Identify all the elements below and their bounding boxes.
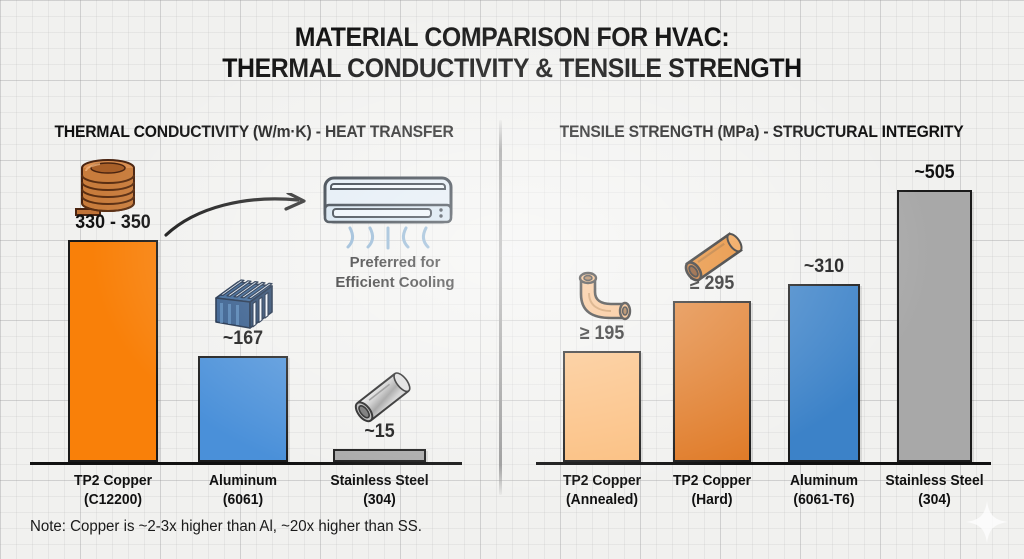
copper-elbow-pipe-icon <box>563 268 639 330</box>
footnote: Note: Copper is ~2-3x higher than Al, ~2… <box>30 518 422 536</box>
bar[interactable] <box>198 356 288 462</box>
right-panel-header: TENSILE STRENGTH (MPa) - STRUCTURAL INTE… <box>560 123 964 142</box>
preferred-callout: Preferred for Efficient Cooling <box>305 253 485 292</box>
stainless-tube-icon <box>350 368 416 426</box>
infographic-canvas: MATERIAL COMPARISON FOR HVAC: THERMAL CO… <box>0 0 1024 559</box>
bar-value-label: ~310 <box>762 256 886 278</box>
bar[interactable] <box>563 351 641 462</box>
category-label-line-2: (304) <box>296 491 462 510</box>
category-label-line-1: Stainless Steel <box>860 472 1009 491</box>
bar[interactable] <box>673 301 751 462</box>
air-conditioner-icon <box>322 175 454 251</box>
panel-divider <box>499 120 502 495</box>
bar-category-label: Stainless Steel(304) <box>296 472 462 509</box>
bar-value-label: ~167 <box>173 328 314 350</box>
page-title: MATERIAL COMPARISON FOR HVAC: THERMAL CO… <box>41 22 983 85</box>
bar-value-label: 330 - 350 <box>43 212 184 234</box>
category-label-line-1: Stainless Steel <box>296 472 462 491</box>
left-chart-baseline <box>30 462 462 465</box>
bar[interactable] <box>68 240 158 462</box>
category-label-line-2: (304) <box>860 491 1009 510</box>
bar[interactable] <box>333 449 426 462</box>
callout-line-2: Efficient Cooling <box>305 273 485 293</box>
left-panel-header: THERMAL CONDUCTIVITY (W/m·K) - HEAT TRAN… <box>55 123 454 142</box>
copper-coil-icon <box>70 157 142 219</box>
title-line-2: THERMAL CONDUCTIVITY & TENSILE STRENGTH <box>41 53 983 84</box>
bar-value-label: ~505 <box>871 162 998 184</box>
bar[interactable] <box>897 190 972 462</box>
callout-line-1: Preferred for <box>305 253 485 273</box>
bar-value-label: ≥ 195 <box>537 323 667 345</box>
bar-value-label: ~15 <box>308 421 452 443</box>
right-chart-baseline <box>536 462 991 465</box>
bar[interactable] <box>788 284 860 462</box>
bar-value-label: ≥ 295 <box>647 273 777 295</box>
title-line-1: MATERIAL COMPARISON FOR HVAC: <box>295 22 730 52</box>
curved-arrow-icon <box>162 193 317 239</box>
bar-category-label: Stainless Steel(304) <box>860 472 1009 509</box>
